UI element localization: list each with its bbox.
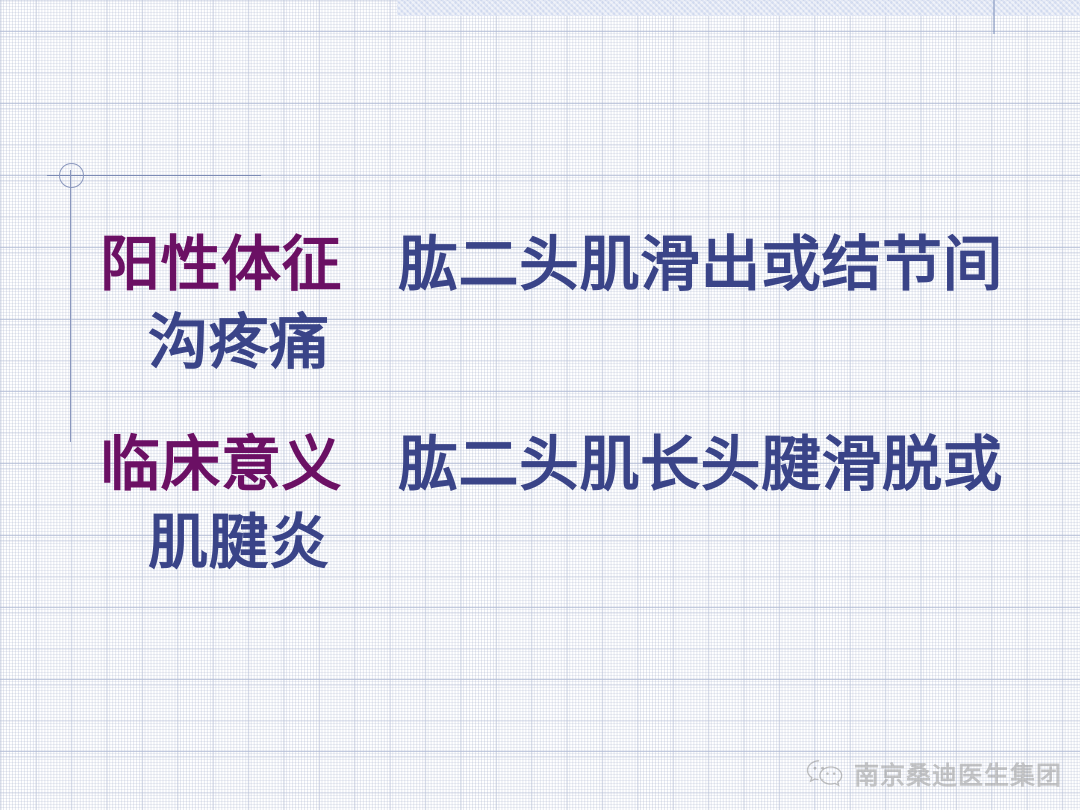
heading-positive-sign: 阳性体征 <box>100 230 342 300</box>
wechat-icon <box>805 757 845 791</box>
top-banner-band <box>397 0 1080 16</box>
heading-clinical-significance: 临床意义 <box>100 430 342 500</box>
text-block-positive-sign: 阳性体征肱二头肌滑出或结节间沟疼痛 <box>100 226 1020 382</box>
slide-canvas: 阳性体征肱二头肌滑出或结节间沟疼痛 临床意义肱二头肌长头腱滑脱或肌腱炎 南京桑迪… <box>0 0 1080 810</box>
watermark: 南京桑迪医生集团 <box>805 756 1062 792</box>
text-block-clinical-significance: 临床意义肱二头肌长头腱滑脱或肌腱炎 <box>100 426 1020 582</box>
decoration-circle-marker <box>59 163 84 188</box>
watermark-label: 南京桑迪医生集团 <box>854 756 1062 792</box>
decoration-vertical-rule <box>70 170 71 442</box>
slide-body: 阳性体征肱二头肌滑出或结节间沟疼痛 临床意义肱二头肌长头腱滑脱或肌腱炎 <box>100 226 1020 582</box>
top-banner-edge-marker <box>993 0 995 34</box>
